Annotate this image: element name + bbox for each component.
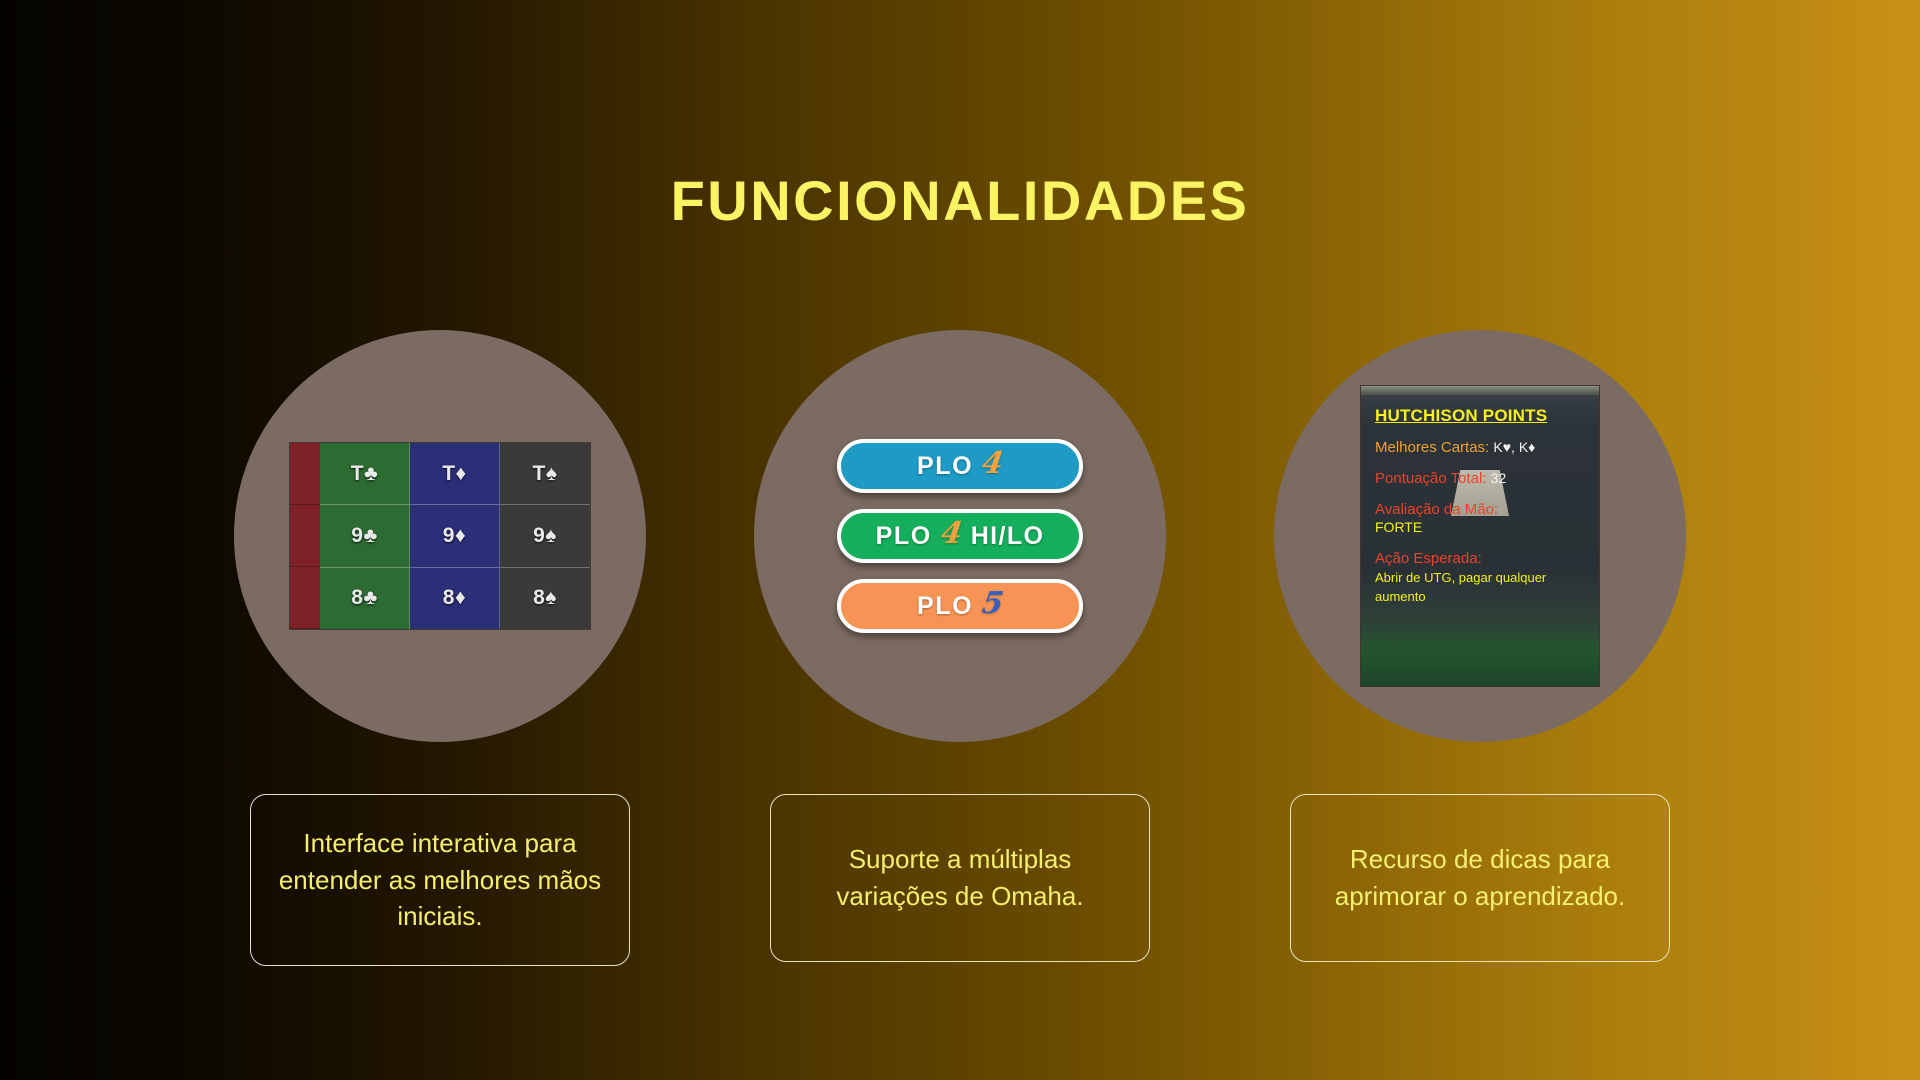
feature-column-2: PLO 4 PLO 4 HI/LO PLO 5 Suporte a múltip… — [700, 330, 1220, 962]
hint-row-hand-rating: Avaliação da Mão: FORTE — [1375, 501, 1585, 539]
grid-columns: T♣ 9♣ 8♣ T♦ 9♦ 8♦ T♠ 9♠ 8♠ — [320, 443, 590, 629]
starting-hands-grid[interactable]: T♣ 9♣ 8♣ T♦ 9♦ 8♦ T♠ 9♠ 8♠ — [290, 443, 590, 629]
hint-value-hand-rating: FORTE — [1375, 519, 1422, 535]
plo-4-label: PLO — [917, 452, 973, 481]
hint-value-best-cards: K♥, K♦ — [1493, 439, 1535, 455]
feature-caption-3: Recurso de dicas para aprimorar o aprend… — [1290, 794, 1670, 962]
hint-label-total-score: Pontuação Total: — [1375, 470, 1486, 487]
grid-column-spades: T♠ 9♠ 8♠ — [500, 443, 590, 629]
hint-value-expected-action: Abrir de UTG, pagar qualquer aumento — [1375, 570, 1546, 604]
feature-circle-hints: HUTCHISON POINTS Melhores Cartas: K♥, K♦… — [1274, 330, 1686, 742]
grid-left-sliver — [290, 443, 320, 629]
grid-cell[interactable]: 9♣ — [320, 505, 410, 567]
grid-cell[interactable]: 8♦ — [410, 568, 500, 629]
hint-label-best-cards: Melhores Cartas: — [1375, 439, 1489, 456]
feature-circle-plo-variants: PLO 4 PLO 4 HI/LO PLO 5 — [754, 330, 1166, 742]
plo-5-button[interactable]: PLO 5 — [837, 579, 1083, 633]
plo-4-hilo-number: 4 — [939, 519, 964, 549]
hint-row-total-score: Pontuação Total: 32 — [1375, 470, 1585, 489]
grid-column-diamonds: T♦ 9♦ 8♦ — [410, 443, 500, 629]
hint-panel-title: HUTCHISON POINTS — [1375, 406, 1585, 426]
feature-column-1: T♣ 9♣ 8♣ T♦ 9♦ 8♦ T♠ 9♠ 8♠ — [180, 330, 700, 966]
plo-4-button[interactable]: PLO 4 — [837, 439, 1083, 493]
plo-5-label: PLO — [917, 592, 973, 621]
grid-cell[interactable]: T♣ — [320, 443, 410, 505]
plo-5-number: 5 — [980, 589, 1005, 619]
grid-column-clubs: T♣ 9♣ 8♣ — [320, 443, 410, 629]
feature-circle-card-grid: T♣ 9♣ 8♣ T♦ 9♦ 8♦ T♠ 9♠ 8♠ — [234, 330, 646, 742]
grid-cell[interactable]: T♠ — [500, 443, 590, 505]
hint-panel-content: HUTCHISON POINTS Melhores Cartas: K♥, K♦… — [1375, 406, 1585, 606]
feature-caption-1: Interface interativa para entender as me… — [250, 794, 630, 966]
feature-column-3: HUTCHISON POINTS Melhores Cartas: K♥, K♦… — [1220, 330, 1740, 962]
plo-4-hilo-suffix: HI/LO — [971, 522, 1045, 551]
grid-cell[interactable]: 9♦ — [410, 505, 500, 567]
feature-caption-2: Suporte a múltiplas variações de Omaha. — [770, 794, 1150, 962]
grid-cell[interactable]: 9♠ — [500, 505, 590, 567]
grid-cell[interactable]: 8♠ — [500, 568, 590, 629]
page-title: FUNCIONALIDADES — [0, 168, 1920, 233]
hint-label-hand-rating: Avaliação da Mão: — [1375, 501, 1498, 518]
grid-cell[interactable]: T♦ — [410, 443, 500, 505]
hint-label-expected-action: Ação Esperada: — [1375, 550, 1482, 567]
features-row: T♣ 9♣ 8♣ T♦ 9♦ 8♦ T♠ 9♠ 8♠ — [0, 330, 1920, 970]
plo-4-number: 4 — [980, 449, 1005, 479]
plo-4-hilo-button[interactable]: PLO 4 HI/LO — [837, 509, 1083, 563]
hutchison-points-panel: HUTCHISON POINTS Melhores Cartas: K♥, K♦… — [1361, 386, 1599, 686]
hint-value-total-score: 32 — [1491, 470, 1507, 486]
plo-4-hilo-label: PLO — [876, 522, 932, 551]
plo-variant-buttons: PLO 4 PLO 4 HI/LO PLO 5 — [837, 439, 1083, 633]
grid-cell[interactable]: 8♣ — [320, 568, 410, 629]
hint-row-best-cards: Melhores Cartas: K♥, K♦ — [1375, 439, 1585, 458]
hint-row-expected-action: Ação Esperada: Abrir de UTG, pagar qualq… — [1375, 550, 1585, 606]
